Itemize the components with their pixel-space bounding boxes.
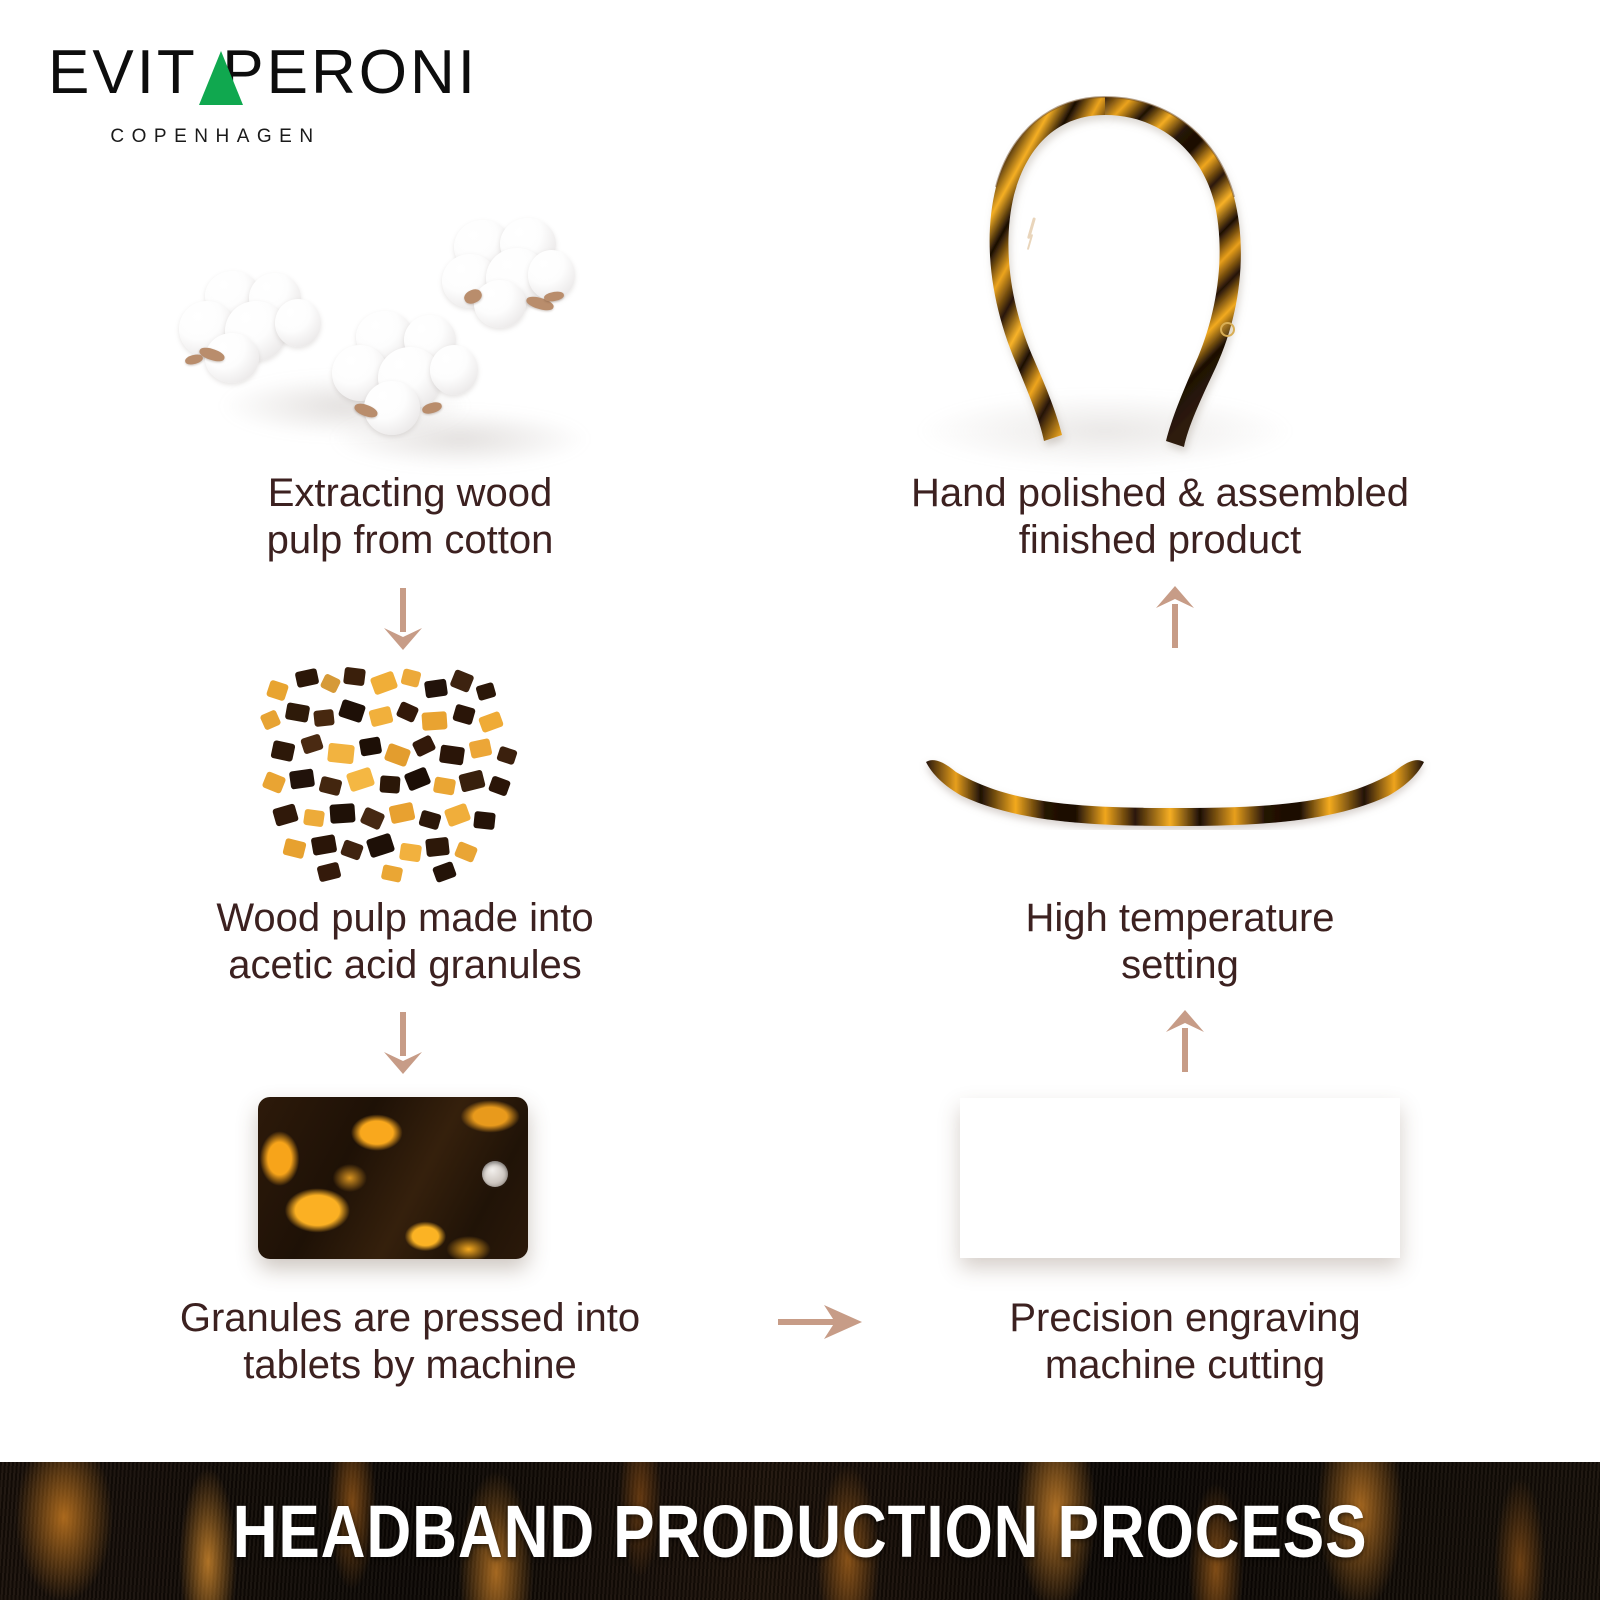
banner-title: HEADBAND PRODUCTION PROCESS bbox=[128, 1462, 1472, 1600]
step-6-image bbox=[900, 75, 1360, 465]
step-4-caption: Precision engraving machine cutting bbox=[930, 1295, 1440, 1389]
step-5-caption: High temperature setting bbox=[920, 895, 1440, 989]
finished-headband bbox=[900, 75, 1360, 465]
cotton-boll bbox=[330, 311, 480, 437]
step-6-caption-line1: Hand polished & assembled bbox=[911, 471, 1409, 515]
step-1-caption: Extracting wood pulp from cotton bbox=[110, 470, 710, 564]
engraving-cut-sheet bbox=[960, 1098, 1400, 1258]
brand-medallion-icon bbox=[1220, 322, 1235, 337]
step-3-caption-line1: Granules are pressed into bbox=[180, 1296, 640, 1340]
step-5-caption-line1: High temperature bbox=[1025, 896, 1334, 940]
cotton-boll bbox=[175, 271, 325, 391]
step-2-image bbox=[262, 660, 524, 888]
step-2-caption: Wood pulp made into acetic acid granules bbox=[100, 895, 710, 989]
flat-headband-strip bbox=[890, 700, 1460, 830]
step-3-caption: Granules are pressed into tablets by mac… bbox=[50, 1295, 770, 1389]
footer-banner: HEADBAND PRODUCTION PROCESS bbox=[0, 1462, 1600, 1600]
step-4-caption-line1: Precision engraving bbox=[1009, 1296, 1360, 1340]
step-4-caption-line2: machine cutting bbox=[1045, 1343, 1325, 1387]
step-6-caption: Hand polished & assembled finished produ… bbox=[850, 470, 1470, 564]
step-6-caption-line2: finished product bbox=[1019, 518, 1301, 562]
step-3-caption-line2: tablets by machine bbox=[243, 1343, 577, 1387]
arrow-up-icon bbox=[1160, 1010, 1210, 1072]
arrow-up-icon bbox=[1150, 586, 1200, 648]
arrow-down-icon bbox=[378, 1012, 428, 1074]
step-2-caption-line2: acetic acid granules bbox=[228, 943, 582, 987]
step-1-image bbox=[150, 215, 670, 465]
step-5-caption-line2: setting bbox=[1121, 943, 1239, 987]
step-2-caption-line1: Wood pulp made into bbox=[216, 896, 593, 940]
step-1-caption-line2: pulp from cotton bbox=[267, 518, 554, 562]
process-diagram: Extracting wood pulp from cotton bbox=[0, 0, 1600, 1462]
step-3-image bbox=[258, 1097, 548, 1265]
tablet-hole bbox=[482, 1161, 508, 1187]
step-4-image bbox=[960, 1098, 1408, 1264]
step-1-caption-line1: Extracting wood bbox=[268, 471, 553, 515]
step-5-image bbox=[890, 700, 1460, 830]
acetate-tablet bbox=[258, 1097, 528, 1259]
arrow-right-icon bbox=[778, 1300, 862, 1344]
arrow-down-icon bbox=[378, 588, 428, 650]
